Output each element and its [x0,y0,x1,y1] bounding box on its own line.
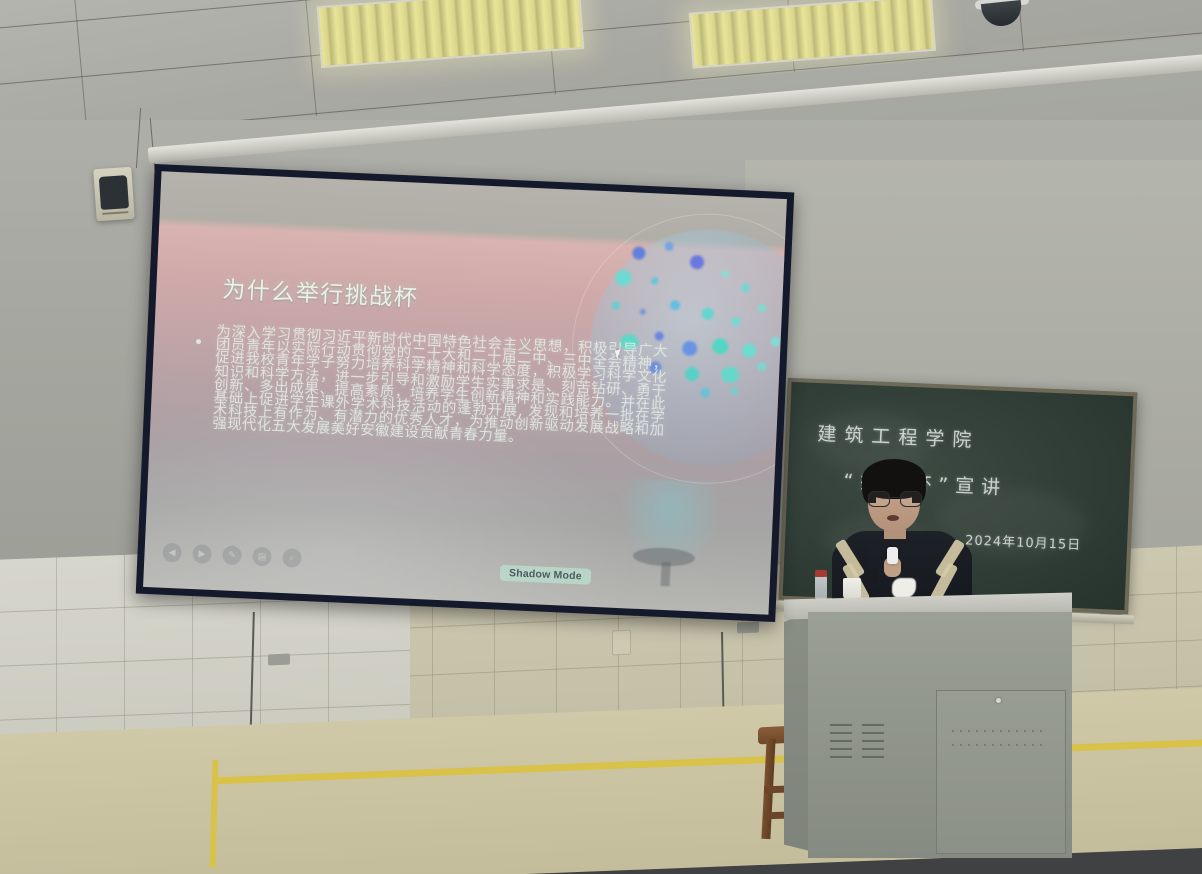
wall-speaker-icon [93,167,135,222]
previous-slide-button[interactable]: ◀ [162,543,182,563]
classroom-scene: 建筑工程学院 “挑战杯”宣讲 2024年10月15日 [0,0,1202,874]
projection-screen[interactable]: 为什么举行挑战杯 为深入学习贯彻习近平新时代中国特色社会主义思想，积极引导广大团… [136,164,794,622]
wall-mounted-box [737,622,759,634]
lectern [784,596,1072,858]
pen-tool-button[interactable]: ✎ [222,545,242,565]
bottle-cap [815,570,827,577]
slide-canvas[interactable]: 为什么举行挑战杯 为深入学习贯彻习近平新时代中国特色社会主义思想，积极引导广大团… [143,171,787,614]
podium-lock-icon[interactable] [996,698,1001,703]
screen-tool-button[interactable]: ▤ [252,547,272,567]
tissue [892,578,916,598]
power-outlet [612,630,631,656]
glasses-icon [868,491,920,505]
slide-body-text: 为深入学习贯彻习近平新时代中国特色社会主义思想，积极引导广大团员青年以实际行动贯… [212,326,668,452]
next-slide-button[interactable]: ▶ [192,544,212,564]
presentation-clicker [887,547,898,564]
podium-cabinet-door[interactable] [936,690,1066,854]
ceiling-light-panel [317,0,585,68]
zoom-tool-button[interactable]: ⌕ [282,548,302,568]
ceiling-light-panel [689,0,936,69]
wall-mounted-box [268,654,290,666]
